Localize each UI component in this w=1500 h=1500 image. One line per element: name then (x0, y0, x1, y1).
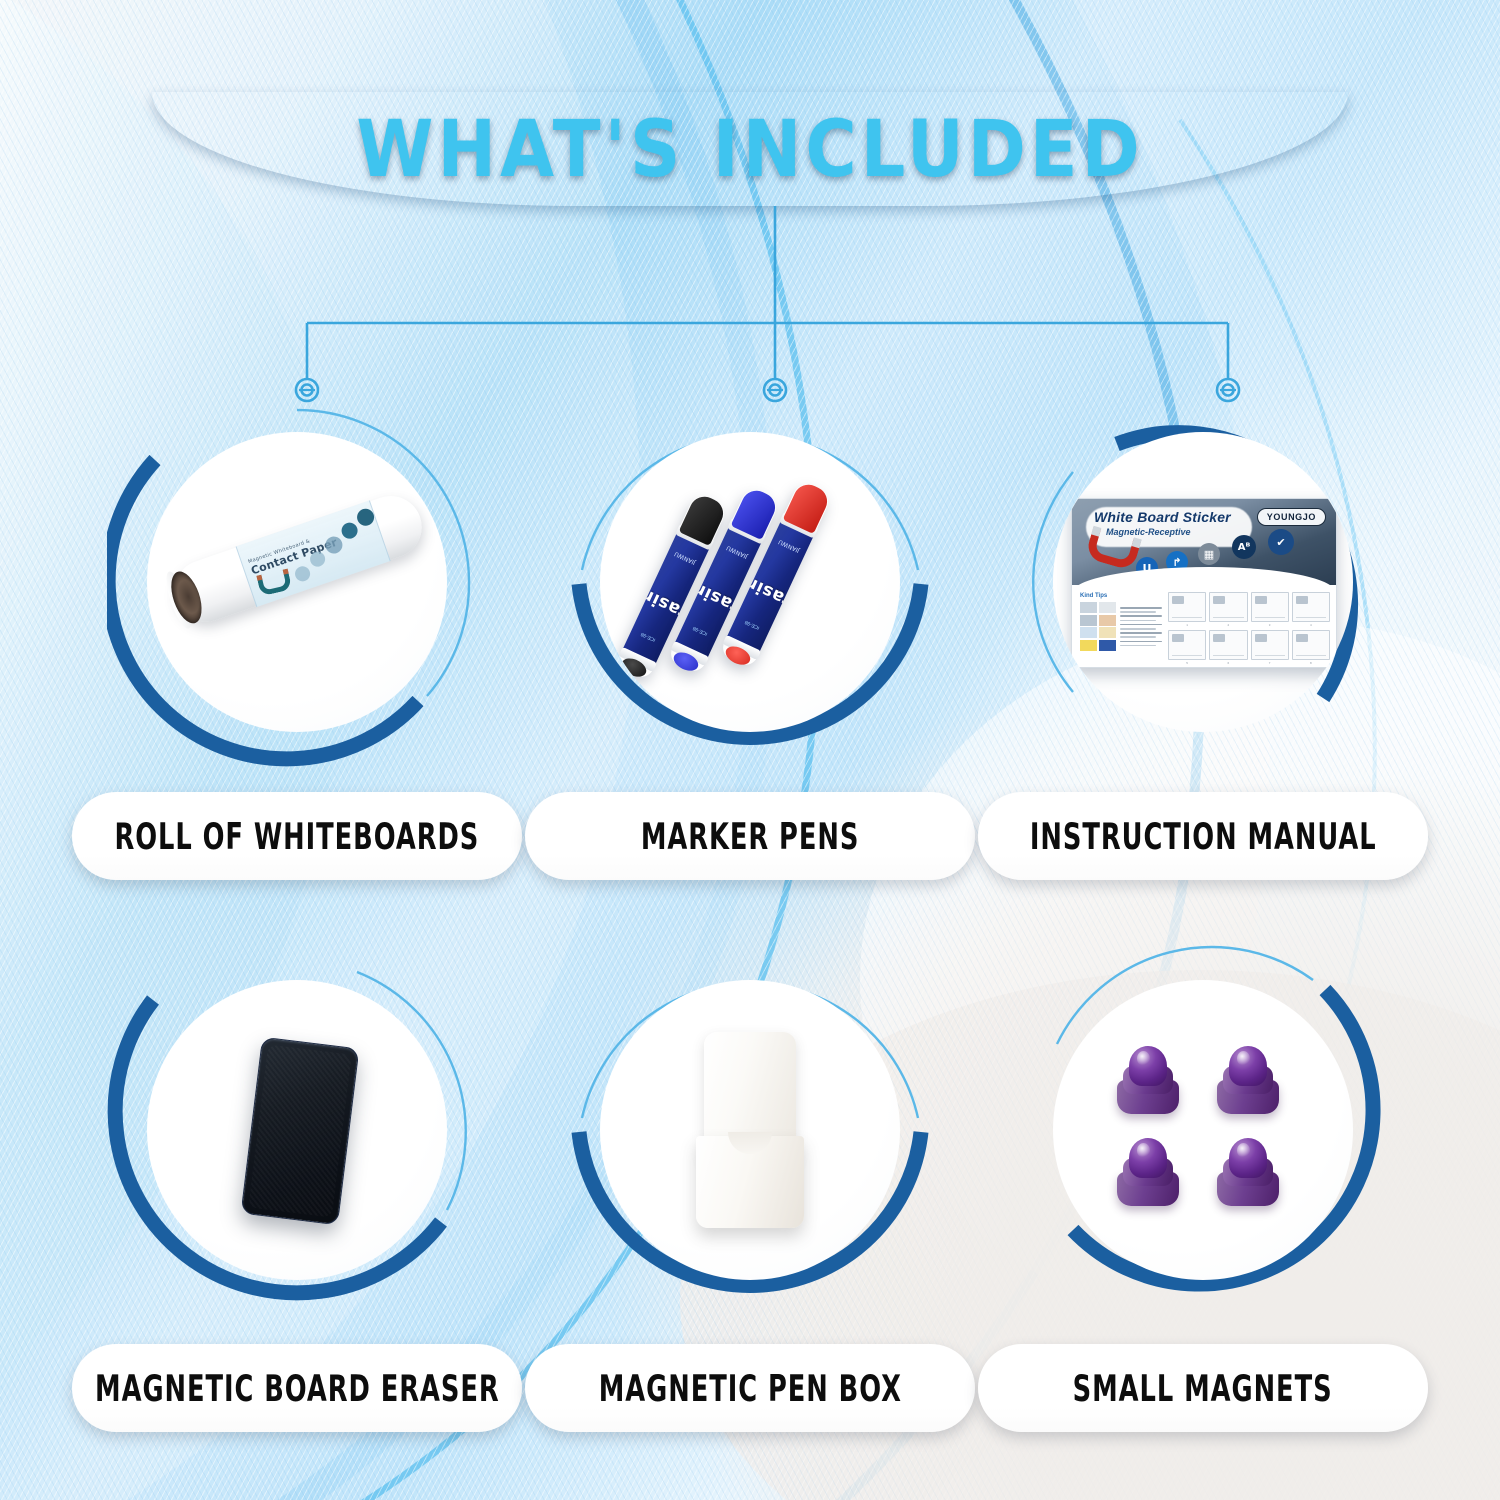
items-grid: Magnetic Whiteboard & Contact Paper (0, 0, 1500, 1500)
item-card-roll-of-whiteboards: Magnetic Whiteboard & Contact Paper (62, 392, 532, 772)
item-label-text: MARKER PENS (641, 815, 859, 858)
item-circle: Magnetic Whiteboard & Contact Paper (107, 392, 487, 772)
product-photo-instruction-manual: White Board Sticker Magnetic-Receptive Y… (1053, 432, 1353, 732)
product-photo-magnetic-pen-box (600, 980, 900, 1280)
marker-pens-art: JIANWU Erasing ICE-98 JIANWU (600, 432, 900, 732)
feature-icon-grid: ▦ (1198, 543, 1220, 565)
eraser-art (147, 980, 447, 1280)
item-circle: White Board Sticker Magnetic-Receptive Y… (1013, 392, 1393, 772)
item-label-text: ROLL OF WHITEBOARDS (115, 815, 480, 858)
pen-box-icon (696, 1032, 804, 1228)
item-label-text: SMALL MAGNETS (1073, 1367, 1333, 1410)
contact-paper-roll-icon: Magnetic Whiteboard & Contact Paper (166, 488, 430, 631)
manual-tips-block: Kind Tips (1080, 593, 1156, 651)
magnets-art (1053, 980, 1353, 1280)
item-card-marker-pens: JIANWU Erasing ICE-98 JIANWU (515, 392, 985, 772)
item-circle: JIANWU Erasing ICE-98 JIANWU (560, 392, 940, 772)
item-circle (560, 940, 940, 1320)
magnet-knob (1215, 1138, 1281, 1206)
feature-icon-check: ✔ (1268, 529, 1294, 555)
item-label-pill: SMALL MAGNETS (978, 1344, 1428, 1432)
item-circle (1013, 940, 1393, 1320)
instruction-manual-art: White Board Sticker Magnetic-Receptive Y… (1053, 432, 1353, 732)
item-label-pill: MAGNETIC PEN BOX (525, 1344, 975, 1432)
item-label-pill: MARKER PENS (525, 792, 975, 880)
brand-badge: YOUNGJO (1257, 508, 1326, 526)
item-label-pill: INSTRUCTION MANUAL (978, 792, 1428, 880)
product-photo-marker-pens: JIANWU Erasing ICE-98 JIANWU (600, 432, 900, 732)
product-photo-magnetic-board-eraser (147, 980, 447, 1280)
manual-sheet: White Board Sticker Magnetic-Receptive Y… (1071, 498, 1337, 668)
item-card-magnetic-pen-box: MAGNETIC PEN BOX (515, 940, 985, 1320)
pen-box-art (600, 980, 900, 1280)
item-label-text: INSTRUCTION MANUAL (1030, 815, 1377, 858)
item-card-magnetic-board-eraser: MAGNETIC BOARD ERASER (62, 940, 532, 1320)
item-card-small-magnets: SMALL MAGNETS (968, 940, 1438, 1320)
item-label-pill: MAGNETIC BOARD ERASER (72, 1344, 522, 1432)
manual-tips-heading: Kind Tips (1080, 593, 1156, 599)
manual-step-panels: 1 2 3 4 5 6 7 8 (1168, 592, 1330, 665)
magnet-knob (1115, 1138, 1181, 1206)
board-eraser-icon (241, 1037, 360, 1226)
infographic-stage: WHAT'S INCLUDED (0, 0, 1500, 1500)
magnet-knob (1115, 1046, 1181, 1114)
item-label-pill: ROLL OF WHITEBOARDS (72, 792, 522, 880)
item-label-text: MAGNETIC PEN BOX (598, 1367, 901, 1410)
roll-art: Magnetic Whiteboard & Contact Paper (147, 432, 447, 732)
item-card-instruction-manual: White Board Sticker Magnetic-Receptive Y… (968, 392, 1438, 772)
manual-title: White Board Sticker (1094, 509, 1231, 525)
item-circle (107, 940, 487, 1320)
manual-color-swatches (1080, 602, 1116, 651)
manual-tips-text (1120, 607, 1162, 649)
feature-icon-size: Aᴮ (1232, 535, 1256, 559)
product-photo-small-magnets (1053, 980, 1353, 1280)
magnet-knob (1215, 1046, 1281, 1114)
product-photo-roll-of-whiteboards: Magnetic Whiteboard & Contact Paper (147, 432, 447, 732)
item-label-text: MAGNETIC BOARD ERASER (95, 1367, 500, 1410)
